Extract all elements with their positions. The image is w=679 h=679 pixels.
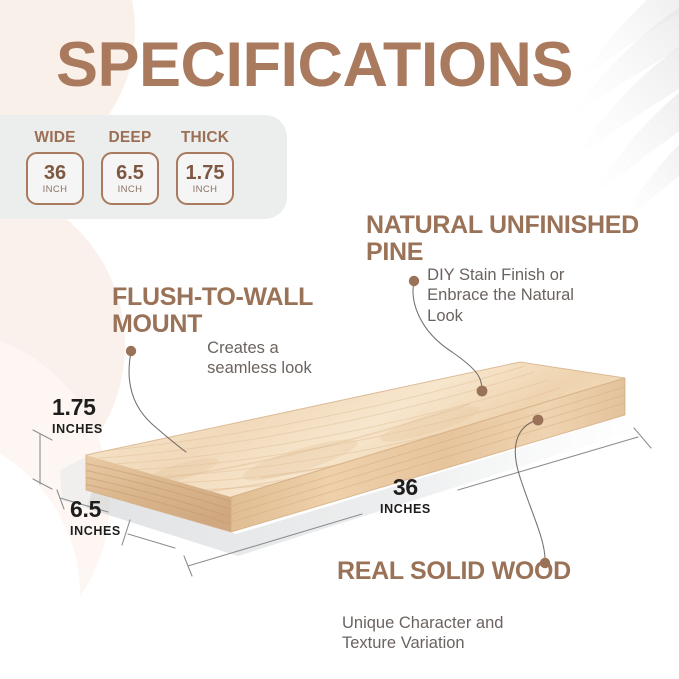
dimension-unit: INCHES <box>70 524 121 538</box>
callout-body: Creates a seamless look <box>207 338 329 379</box>
specification-infographic: SPECIFICATIONS WIDE 36 INCH DEEP 6.5 INC… <box>0 0 679 679</box>
callout-flush-to-wall-mount: FLUSH-TO-WALL MOUNTCreates a seamless lo… <box>112 284 372 379</box>
callout-heading: FLUSH-TO-WALL MOUNT <box>112 283 313 338</box>
callout-heading: NATURAL UNFINISHED PINE <box>366 211 639 266</box>
dimension-value: 6.5 <box>70 498 121 521</box>
dimension-unit: INCHES <box>52 422 103 436</box>
callout-natural-unfinished-pine: NATURAL UNFINISHED PINEDIY Stain Finish … <box>366 212 666 326</box>
callout-real-solid-wood: REAL SOLID WOODUnique Character and Text… <box>337 558 637 654</box>
dimension-unit: INCHES <box>380 502 431 516</box>
dimension-label-depth: 6.5 INCHES <box>70 498 121 538</box>
dimension-value: 1.75 <box>52 396 103 419</box>
dimension-value: 36 <box>380 476 431 499</box>
pointer-dot-wood-shelf <box>533 415 544 426</box>
pointer-dot-pine-shelf <box>477 386 488 397</box>
dimension-label-thickness: 1.75 INCHES <box>52 396 103 436</box>
callout-body: Unique Character and Texture Variation <box>342 613 522 654</box>
callout-body: DIY Stain Finish or Enbrace the Natural … <box>427 265 609 327</box>
callout-heading: REAL SOLID WOOD <box>337 557 571 585</box>
dimension-label-length: 36 INCHES <box>380 476 431 516</box>
pointer-line-wood <box>515 420 545 562</box>
